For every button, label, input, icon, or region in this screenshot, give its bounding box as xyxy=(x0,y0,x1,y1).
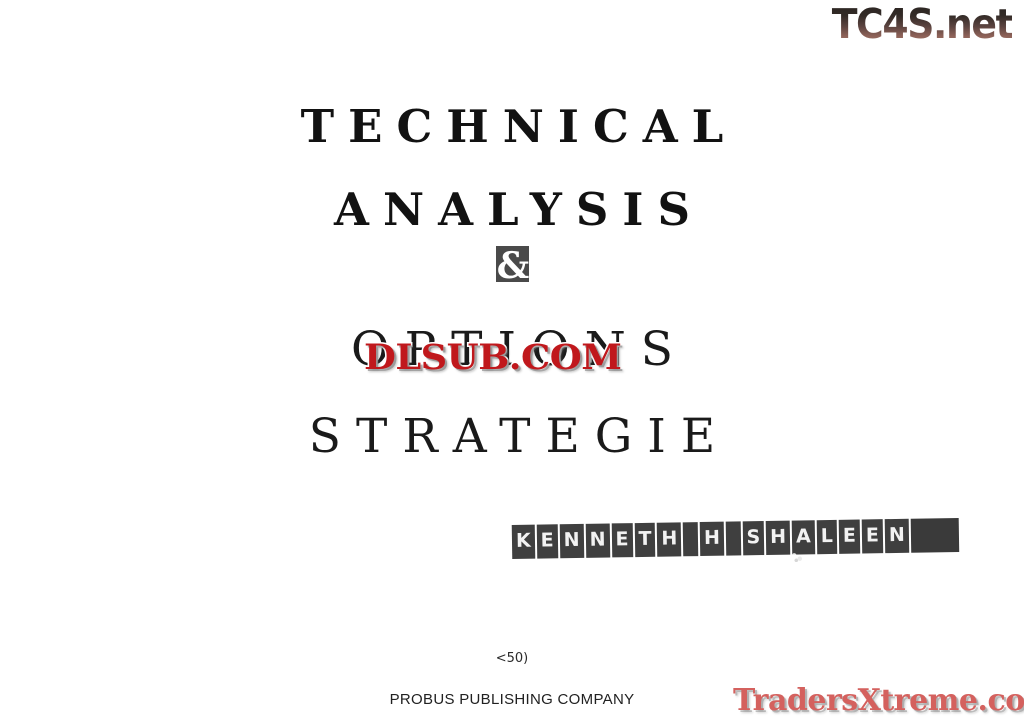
title-line-analysis: ANALYSIS xyxy=(0,149,1024,232)
author-tile: H xyxy=(700,522,724,556)
author-tile: N xyxy=(559,524,583,558)
title-line-strategies: STRATEGIE xyxy=(0,373,1024,460)
author-tile: S xyxy=(742,521,764,555)
author-tile: T xyxy=(634,523,656,557)
author-tile: N xyxy=(585,523,609,557)
author-name-plate: KENNETH H SHALEEN xyxy=(512,518,959,559)
cover-title-block: TECHNICAL ANALYSIS & OPTIONS STRATEGIE xyxy=(0,96,1024,460)
ampersand-glyph: & xyxy=(497,248,530,284)
author-tile: E xyxy=(862,519,884,553)
dlsub-watermark: DLSUB.COM xyxy=(364,340,621,375)
author-tile: H xyxy=(657,522,681,556)
author-tile xyxy=(911,518,960,553)
edition-mark: <50) xyxy=(0,651,1024,666)
author-tile: H xyxy=(766,521,790,555)
tradersxtreme-watermark: TradersXtreme.com xyxy=(733,686,1024,716)
ampersand-box: & xyxy=(496,246,529,282)
author-tile: E xyxy=(611,523,633,557)
book-cover-page: TC4S.net TECHNICAL ANALYSIS & OPTIONS ST… xyxy=(0,0,1024,724)
author-tile: K xyxy=(512,525,535,559)
author-tile: A xyxy=(792,520,815,554)
author-tile xyxy=(726,521,741,555)
author-tile: L xyxy=(817,520,838,554)
author-tile xyxy=(683,522,698,556)
author-tile: E xyxy=(536,524,558,558)
tc4s-watermark: TC4S.net xyxy=(831,4,1012,45)
title-line-technical: TECHNICAL xyxy=(0,96,1024,149)
author-tile: E xyxy=(839,520,861,554)
author-tile: N xyxy=(885,519,909,553)
